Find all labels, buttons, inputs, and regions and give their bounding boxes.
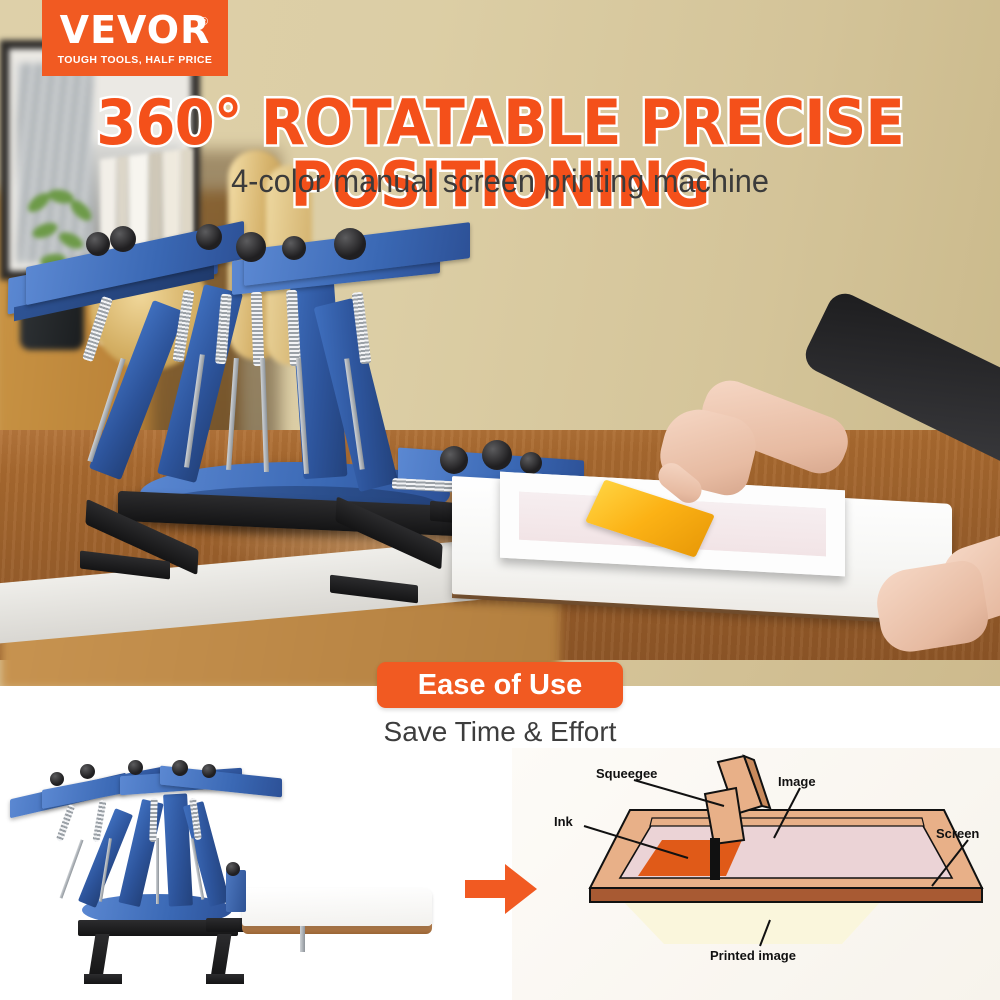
label-image: Image [778, 774, 816, 789]
frame-front-edge [590, 888, 982, 902]
status-badge: Ease of Use [377, 662, 623, 708]
label-squeegee: Squeegee [596, 766, 657, 781]
press-knob-1[interactable] [86, 232, 110, 256]
render-platen [242, 888, 432, 926]
press-knob-7[interactable] [440, 446, 468, 474]
render-platen-screw [300, 926, 305, 952]
render-platen-knob[interactable] [226, 862, 240, 876]
render-platen-clamp [226, 870, 246, 912]
render-rod-3 [156, 838, 159, 904]
squeegee-blade [710, 838, 720, 880]
render-knob-4[interactable] [172, 760, 188, 776]
feature-subtitle: Save Time & Effort [0, 716, 1000, 748]
press-knob-4[interactable] [236, 232, 266, 262]
render-spring-1 [56, 804, 76, 842]
printed-image-sheet [620, 898, 884, 944]
render-knob-5[interactable] [202, 764, 216, 778]
render-base-leg-right [211, 934, 232, 978]
page-subtitle: 4-color manual screen printing machine [20, 163, 980, 200]
render-knob-1[interactable] [50, 772, 64, 786]
render-rod-1 [59, 839, 83, 898]
frame-inner-rail [650, 818, 924, 826]
brand-name: VEVOR [60, 11, 211, 49]
render-knob-2[interactable] [80, 764, 95, 779]
press-knob-5[interactable] [282, 236, 306, 260]
render-knob-3[interactable] [128, 760, 143, 775]
label-ink: Ink [554, 814, 573, 829]
product-render-secondary [0, 742, 470, 992]
press-knob-3[interactable] [196, 224, 222, 250]
label-printed-image: Printed image [710, 948, 796, 963]
render-base-leg-left [89, 934, 110, 978]
brand-tagline: TOUGH TOOLS, HALF PRICE [58, 54, 213, 66]
press-knob-2[interactable] [110, 226, 136, 252]
render-base-foot-right [206, 974, 244, 984]
render-spring-3 [149, 798, 158, 842]
vevor-logo: VEVOR ® TOUGH TOOLS, HALF PRICE [42, 0, 228, 76]
press-knob-9[interactable] [520, 452, 542, 474]
arrow-right-icon [465, 862, 537, 916]
screen-printing-diagram: Squeegee Image Ink Screen Printed image [512, 748, 1000, 1000]
render-base-foot-left [84, 974, 122, 984]
press-knob-6[interactable] [334, 228, 366, 260]
label-screen: Screen [936, 826, 979, 841]
press-knob-8[interactable] [482, 440, 512, 470]
registered-mark: ® [200, 16, 208, 28]
hero-product-photo: VEVOR ® TOUGH TOOLS, HALF PRICE 360° ROT… [0, 0, 1000, 686]
